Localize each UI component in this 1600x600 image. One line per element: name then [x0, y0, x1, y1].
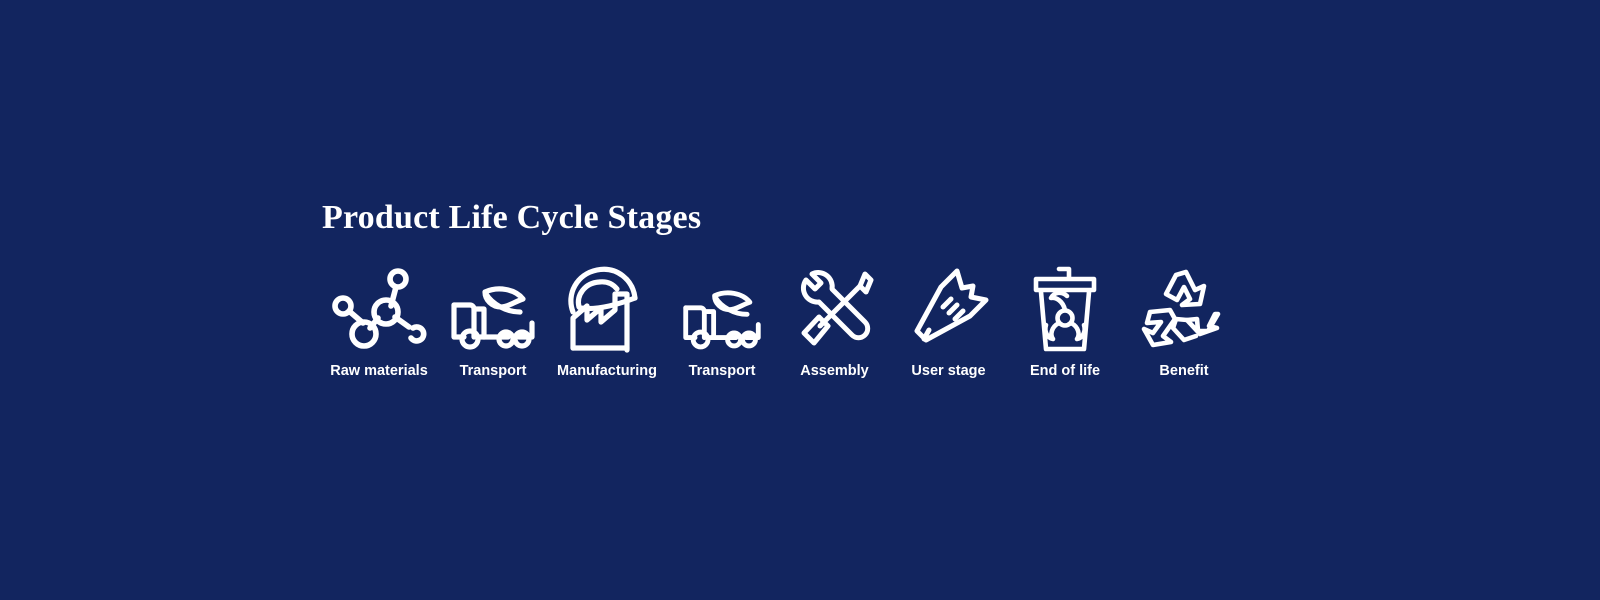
stage-item-user-stage[interactable]: User stage	[891, 268, 1006, 380]
infographic-canvas: Product Life Cycle Stages	[0, 0, 1600, 600]
stage-label: Transport	[460, 363, 527, 380]
stage-label: End of life	[1030, 363, 1100, 380]
lifecycle-infographic: Product Life Cycle Stages	[320, 196, 1260, 380]
factory-leaf-icon	[567, 262, 647, 352]
stage-item-benefit[interactable]: Benefit	[1124, 268, 1244, 380]
stage-item-transport-1[interactable]: Transport	[438, 282, 548, 380]
stage-label: Raw materials	[330, 363, 428, 380]
stage-item-end-of-life[interactable]: End of life	[1006, 266, 1124, 380]
stage-item-assembly[interactable]: Assembly	[778, 270, 891, 380]
stage-label: User stage	[911, 363, 985, 380]
biohazard-trash-bin-icon	[1033, 266, 1097, 352]
stage-label: Transport	[689, 363, 756, 380]
wrench-screwdriver-cross-icon	[795, 270, 875, 352]
stage-item-manufacturing[interactable]: Manufacturing	[548, 262, 666, 380]
page-title: Product Life Cycle Stages	[322, 196, 1260, 240]
molecule-icon	[333, 266, 425, 352]
stage-item-raw-materials[interactable]: Raw materials	[320, 266, 438, 380]
stage-label: Manufacturing	[557, 363, 657, 380]
truck-leaf-icon	[682, 286, 762, 352]
truck-leaf-icon	[450, 282, 536, 352]
adjustable-wrench-icon	[911, 268, 987, 352]
lifecycle-stage-row: Raw materials	[320, 262, 1260, 380]
stage-item-transport-2[interactable]: Transport	[666, 286, 778, 380]
recycle-icon	[1142, 268, 1226, 352]
stage-label: Assembly	[800, 363, 869, 380]
stage-label: Benefit	[1159, 363, 1208, 380]
